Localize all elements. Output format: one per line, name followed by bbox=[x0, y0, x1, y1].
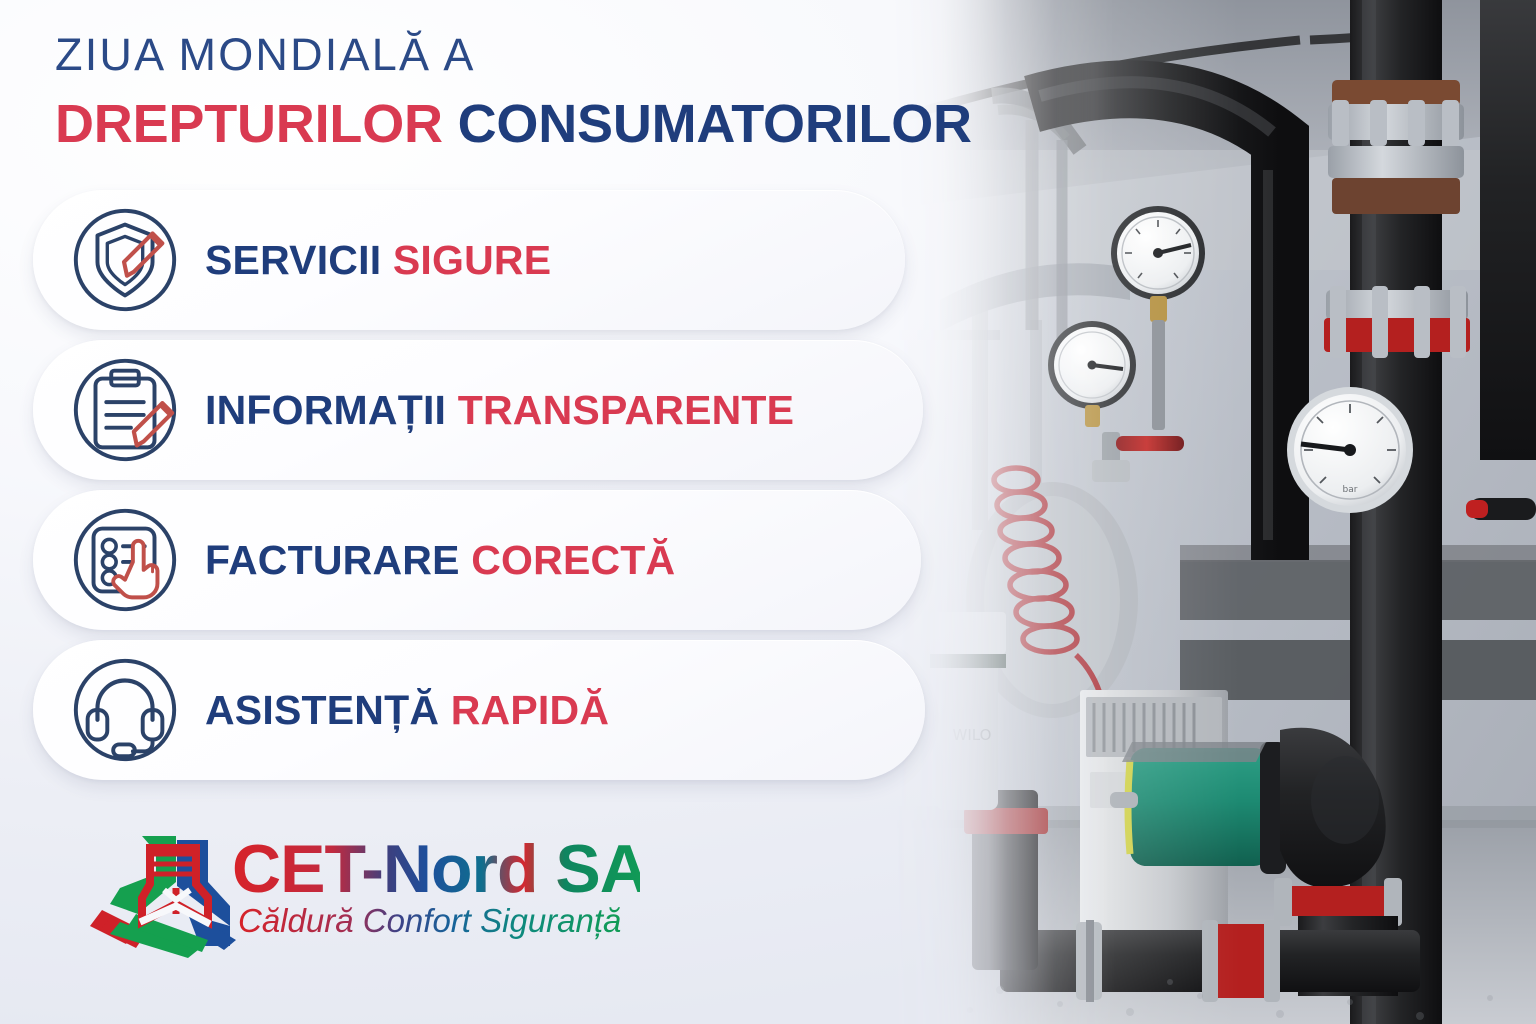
benefit-label-1-red: SIGURE bbox=[393, 237, 551, 283]
benefit-label-2-red: TRANSPARENTE bbox=[458, 387, 795, 433]
svg-text:bar: bar bbox=[1343, 485, 1358, 495]
benefit-pill-facturare-corecta[interactable]: FACTURARE CORECTĂ bbox=[33, 490, 921, 630]
headline-consumatorilor: CONSUMATORILOR bbox=[458, 94, 972, 154]
headline-line-1: ZIUA MONDIALĂ A bbox=[55, 28, 1015, 81]
headline-line-2: DREPTURILOR CONSUMATORILOR bbox=[55, 95, 1015, 154]
form-hand-click-icon bbox=[55, 501, 195, 619]
benefit-label-4-navy: ASISTENȚĂ bbox=[205, 687, 439, 733]
benefits-list: SERVICII SIGURE bbox=[33, 190, 925, 790]
benefit-label-4: ASISTENȚĂ RAPIDĂ bbox=[205, 687, 609, 734]
benefit-label-1: SERVICII SIGURE bbox=[205, 237, 551, 284]
benefit-label-4-red: RAPIDĂ bbox=[451, 687, 609, 733]
benefit-label-3: FACTURARE CORECTĂ bbox=[205, 537, 675, 584]
benefit-label-3-navy: FACTURARE bbox=[205, 537, 460, 583]
benefit-label-2: INFORMAȚII TRANSPARENTE bbox=[205, 387, 794, 434]
clipboard-pencil-icon bbox=[55, 351, 195, 469]
benefit-pill-asistenta-rapida[interactable]: ASISTENȚĂ RAPIDĂ bbox=[33, 640, 925, 780]
logo-tagline: Căldură Confort Siguranță bbox=[238, 902, 621, 939]
logo-wordmark: CET-Nord SA bbox=[232, 831, 640, 907]
headline-drepturilor: DREPTURILOR bbox=[55, 94, 443, 154]
cet-nord-logo[interactable]: CET-Nord SA Căldură Confort Siguranță bbox=[80, 818, 640, 958]
benefit-label-2-navy: INFORMAȚII bbox=[205, 387, 446, 433]
headset-support-icon bbox=[55, 651, 195, 769]
headline-block: ZIUA MONDIALĂ A DREPTURILOR CONSUMATORIL… bbox=[55, 28, 1015, 154]
benefit-pill-informatii-transparente[interactable]: INFORMAȚII TRANSPARENTE bbox=[33, 340, 923, 480]
benefit-label-3-red: CORECTĂ bbox=[471, 537, 675, 583]
benefit-pill-servicii-sigure[interactable]: SERVICII SIGURE bbox=[33, 190, 905, 330]
poster-canvas: bar bbox=[0, 0, 1536, 1024]
shield-pencil-icon bbox=[55, 201, 195, 319]
benefit-label-1-navy: SERVICII bbox=[205, 237, 381, 283]
